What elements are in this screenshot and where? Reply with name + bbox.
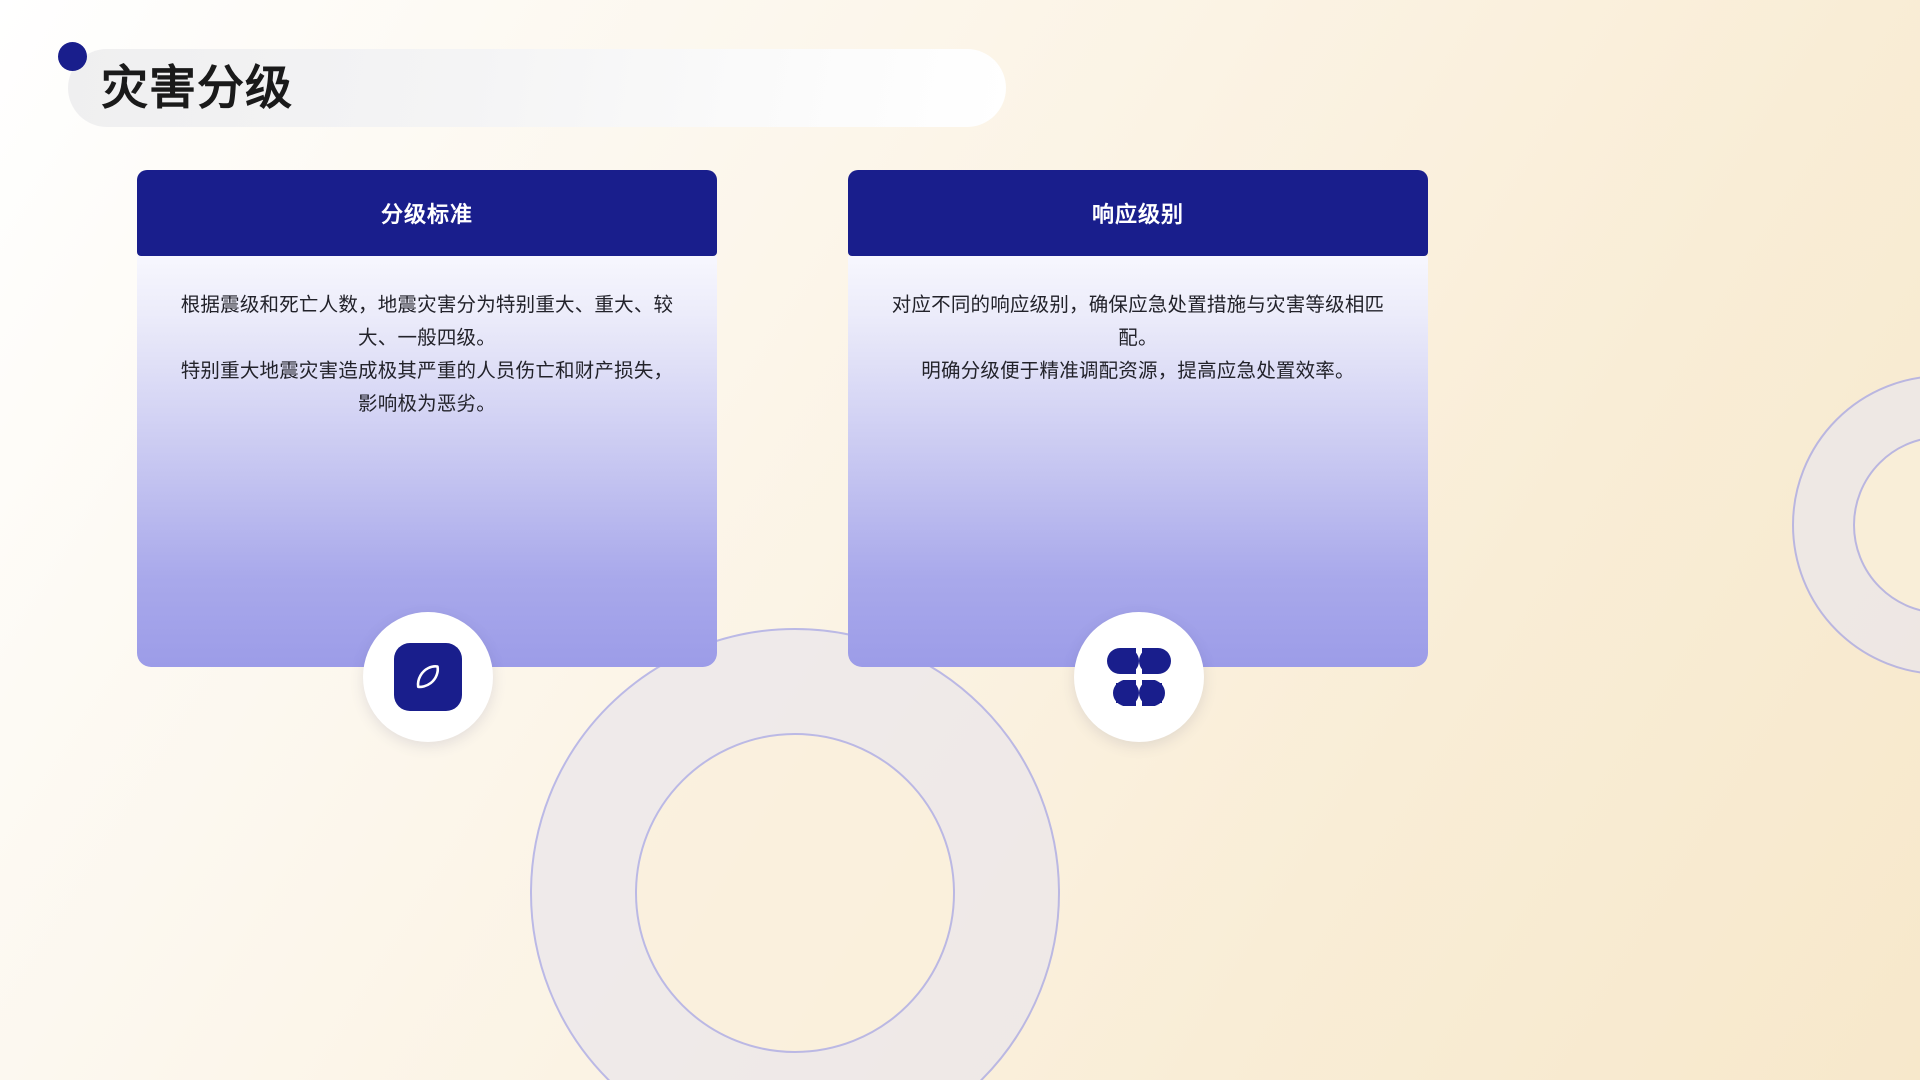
card-icon-badge xyxy=(1074,612,1204,742)
page-title: 灾害分级 xyxy=(101,58,293,118)
card-header-label: 响应级别 xyxy=(1092,197,1184,229)
card-grading-criteria: 分级标准 根据震级和死亡人数，地震灾害分为特别重大、重大、较大、一般四级。 特别… xyxy=(137,170,717,667)
leaf-icon xyxy=(407,656,449,698)
card-response-level: 响应级别 对应不同的响应级别，确保应急处置措施与灾害等级相匹配。 明确分级便于精… xyxy=(848,170,1428,667)
decorative-ring-right-hole xyxy=(1853,436,1920,614)
icon-tile xyxy=(394,643,462,711)
card-body-line: 特别重大地震灾害造成极其严重的人员伤亡和财产损失，影响极为恶劣。 xyxy=(171,355,683,421)
card-body-text: 根据震级和死亡人数，地震灾害分为特别重大、重大、较大、一般四级。 特别重大地震灾… xyxy=(171,289,683,421)
card-header-label: 分级标准 xyxy=(381,197,473,229)
slide-canvas: 灾害分级 分级标准 根据震级和死亡人数，地震灾害分为特别重大、重大、较大、一般四… xyxy=(0,0,1920,1080)
title-bullet-dot-icon xyxy=(58,42,87,71)
decorative-ring-right xyxy=(1792,375,1920,675)
card-body-line: 根据震级和死亡人数，地震灾害分为特别重大、重大、较大、一般四级。 xyxy=(171,289,683,355)
decorative-ring-bottom-hole xyxy=(635,733,955,1053)
card-icon-badge xyxy=(363,612,493,742)
clover-icon xyxy=(1106,644,1172,710)
card-body: 根据震级和死亡人数，地震灾害分为特别重大、重大、较大、一般四级。 特别重大地震灾… xyxy=(137,256,717,667)
card-body-line: 对应不同的响应级别，确保应急处置措施与灾害等级相匹配。 xyxy=(882,289,1394,355)
card-header: 响应级别 xyxy=(848,170,1428,256)
card-body-line: 明确分级便于精准调配资源，提高应急处置效率。 xyxy=(882,355,1394,388)
card-body: 对应不同的响应级别，确保应急处置措施与灾害等级相匹配。 明确分级便于精准调配资源… xyxy=(848,256,1428,667)
decorative-ring-bottom xyxy=(530,628,1060,1080)
card-header: 分级标准 xyxy=(137,170,717,256)
card-body-text: 对应不同的响应级别，确保应急处置措施与灾害等级相匹配。 明确分级便于精准调配资源… xyxy=(882,289,1394,388)
